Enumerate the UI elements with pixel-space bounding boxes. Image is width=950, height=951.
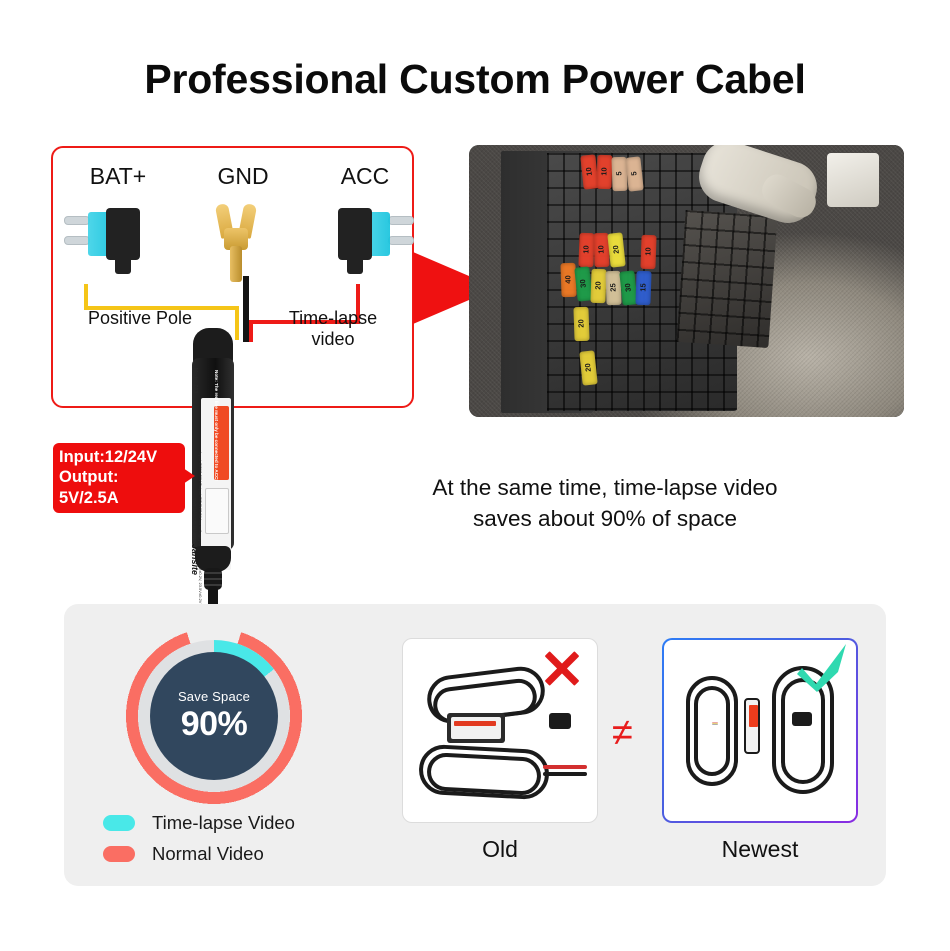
photo-fuse-amp-label: 25 — [608, 270, 618, 304]
donut-center-label: Save Space — [178, 689, 250, 704]
photo-fuse-amp-label: 30 — [622, 270, 635, 305]
photo-fuse-20a: 20 — [573, 307, 589, 342]
fuse-tap-neck — [115, 258, 131, 274]
wire-black-vertical — [243, 276, 249, 342]
fuse-tap-neck — [347, 258, 363, 274]
converter-shell: Model: Z03 Note: The red line must only … — [192, 358, 234, 550]
comparison-label-newest: Newest — [662, 836, 858, 863]
photo-fuse-amp-label: 20 — [576, 306, 586, 340]
spec-output: Output: 5V/2.5A — [59, 467, 179, 508]
terminal-label-acc: ACC — [305, 163, 425, 190]
terminal-label-bat: BAT+ — [58, 163, 178, 190]
converter-model-text: Model: Z03 — [192, 368, 198, 393]
caption-line-1: At the same time, time-lapse video — [360, 472, 850, 503]
old-converter-box — [447, 713, 505, 743]
fuse-prong — [388, 236, 414, 245]
photo-fuse-amp-label: 20 — [593, 268, 603, 302]
new-cable-leads — [702, 722, 728, 725]
middle-caption: At the same time, time-lapse video saves… — [360, 472, 850, 534]
spec-badge: Input:12/24V Output: 5V/2.5A — [53, 443, 185, 513]
fuse-tap-body — [106, 208, 140, 260]
photo-fuse-10a: 10 — [578, 233, 594, 268]
fuse-tap-body — [338, 208, 372, 260]
legend-label-normal: Normal Video — [152, 843, 264, 865]
comparison-label-old: Old — [402, 836, 598, 863]
photo-fuse-amp-label: 30 — [577, 266, 590, 301]
photo-fuse-amp-label: 10 — [596, 232, 606, 266]
donut-center-value: 90% — [181, 705, 248, 744]
check-mark-icon — [794, 642, 850, 692]
x-mark-icon — [541, 647, 583, 689]
comparison-card-newest-inner — [664, 640, 856, 821]
fuse-tap-icon-acc — [330, 206, 416, 284]
photo-fuse-amp-label: 15 — [638, 270, 648, 304]
sublabel-time-lapse-video: Time-lapse video — [268, 308, 398, 349]
comparison-card-old — [402, 638, 598, 823]
photo-fuse-amp-label: 20 — [610, 232, 623, 267]
photo-connector-block — [677, 210, 778, 348]
power-converter-module: Model: Z03 Note: The red line must only … — [189, 328, 237, 588]
legend-label-time-lapse: Time-lapse Video — [152, 812, 295, 834]
fork-barrel — [230, 246, 242, 282]
photo-fuse-10a: 10 — [596, 155, 612, 190]
spec-badge-pointer — [183, 468, 195, 484]
comparison-card-newest — [662, 638, 858, 823]
old-cable-plug — [549, 713, 571, 729]
fuse-prong — [64, 216, 90, 225]
wire-red-down — [249, 320, 253, 342]
old-cable-coil — [426, 752, 542, 796]
photo-fuse-amp-label: 10 — [599, 154, 609, 188]
new-cable-plug — [792, 712, 812, 726]
converter-warning-text: Note: The red line must only be connecte… — [214, 370, 219, 481]
old-cable-lead-black — [543, 772, 587, 776]
terminal-label-gnd: GND — [183, 163, 303, 190]
photo-fuse-20a: 20 — [590, 269, 606, 304]
new-cable-coil — [781, 678, 825, 784]
converter-spec-box — [205, 488, 229, 534]
photo-fuse-10a: 10 — [640, 235, 656, 270]
legend-swatch-time-lapse — [103, 815, 135, 831]
photo-fuse-15a: 15 — [635, 271, 651, 306]
spec-input: Input:12/24V — [59, 447, 179, 467]
photo-fuse-amp-label: 5 — [614, 156, 624, 190]
infographic-page: Professional Custom Power Cabel BAT+ GND… — [0, 0, 950, 951]
converter-pin-text: BAT (+) ACC (+) GND (-) — [189, 498, 198, 549]
photo-connector-slots — [677, 210, 778, 348]
photo-white-clip — [827, 153, 879, 207]
legend-item-normal: Normal Video — [103, 843, 353, 865]
photo-fuse-amp-label: 10 — [581, 232, 591, 266]
legend-swatch-normal — [103, 846, 135, 862]
donut-center: Save Space 90% — [150, 652, 278, 780]
legend-item-time-lapse: Time-lapse Video — [103, 812, 353, 834]
photo-fuse-amp-label: 10 — [643, 234, 653, 268]
fuse-prong — [64, 236, 90, 245]
sublabel-positive-pole: Positive Pole — [60, 308, 220, 329]
photo-fuse-amp-label: 10 — [583, 154, 596, 189]
photo-fuse-amp-label: 40 — [563, 262, 573, 296]
fuse-tap-icon-bat — [62, 206, 148, 284]
new-cable-coil — [694, 686, 730, 776]
save-space-donut-chart: Save Space 90% — [116, 618, 312, 814]
fuse-prong — [388, 216, 414, 225]
chart-legend: Time-lapse Video Normal Video — [103, 812, 353, 874]
photo-fuse-amp-label: 5 — [628, 156, 641, 191]
old-converter-label — [451, 717, 501, 739]
car-fuse-box-photo: 101055101020104030202530152020 — [469, 145, 904, 417]
not-equal-icon: ≠ — [612, 712, 633, 755]
page-title: Professional Custom Power Cabel — [0, 56, 950, 103]
fork-terminal-icon-gnd — [210, 204, 262, 290]
caption-line-2: saves about 90% of space — [360, 503, 850, 534]
old-cable-lead-red — [543, 765, 587, 769]
new-converter-box — [744, 698, 760, 754]
photo-fuse-amp-label: 20 — [582, 350, 595, 385]
